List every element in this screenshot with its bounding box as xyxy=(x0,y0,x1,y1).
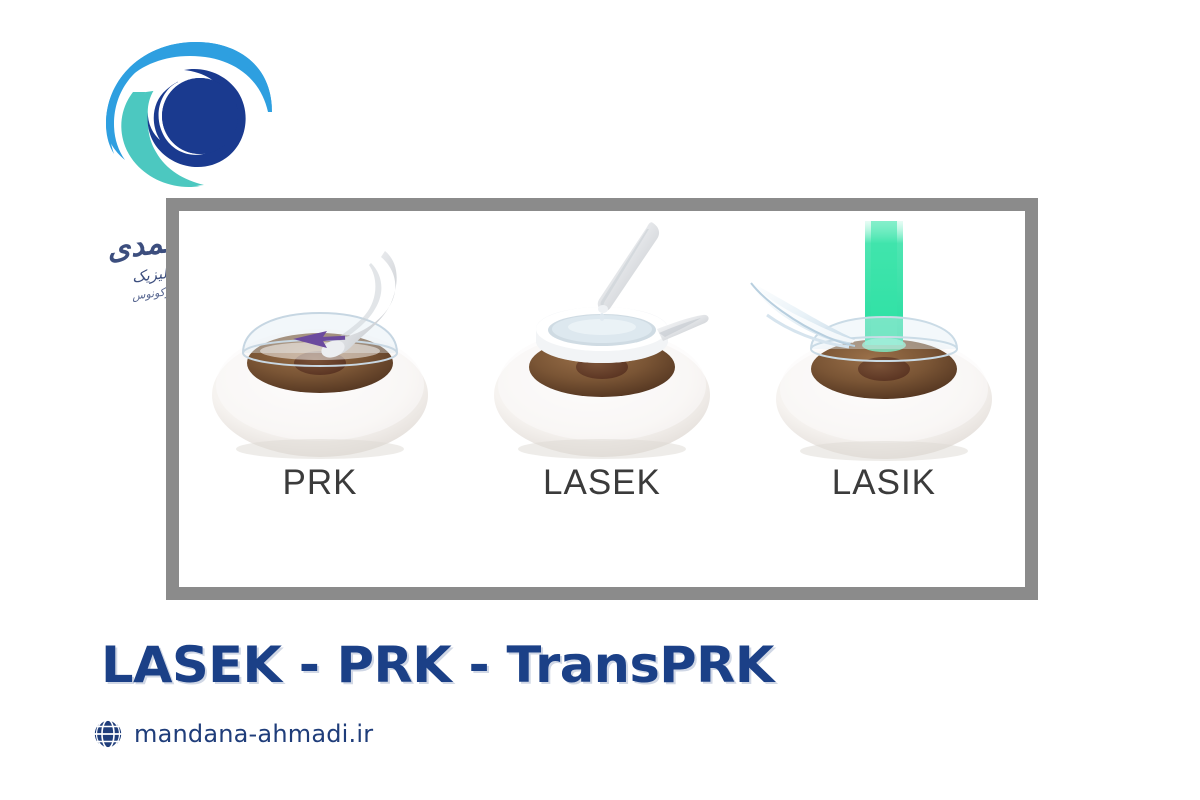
panel-lasik: LASIK xyxy=(743,211,1025,587)
illustration-canvas: PRK xyxy=(179,211,1025,587)
panel-label-lasek: LASEK xyxy=(461,463,743,503)
page-title: LASEK - PRK - TransPRK xyxy=(101,636,774,694)
eye-swirl-logo-icon xyxy=(100,40,290,195)
site-footer: mandana-ahmadi.ir xyxy=(92,718,373,750)
site-url[interactable]: mandana-ahmadi.ir xyxy=(134,720,373,748)
globe-icon xyxy=(92,718,124,750)
panel-label-lasik: LASIK xyxy=(743,463,1025,503)
lasik-eye-diagram-icon xyxy=(749,217,1019,467)
panel-label-prk: PRK xyxy=(179,463,461,503)
prk-eye-diagram-icon xyxy=(185,217,455,467)
brand-logo xyxy=(100,40,290,195)
lasek-eye-diagram-icon xyxy=(467,217,737,467)
panel-lasek: LASEK xyxy=(461,211,743,587)
panel-prk: PRK xyxy=(179,211,461,587)
dropper-icon xyxy=(598,222,659,321)
illustration-frame: PRK xyxy=(166,198,1038,600)
corneal-flap-icon xyxy=(751,283,855,347)
